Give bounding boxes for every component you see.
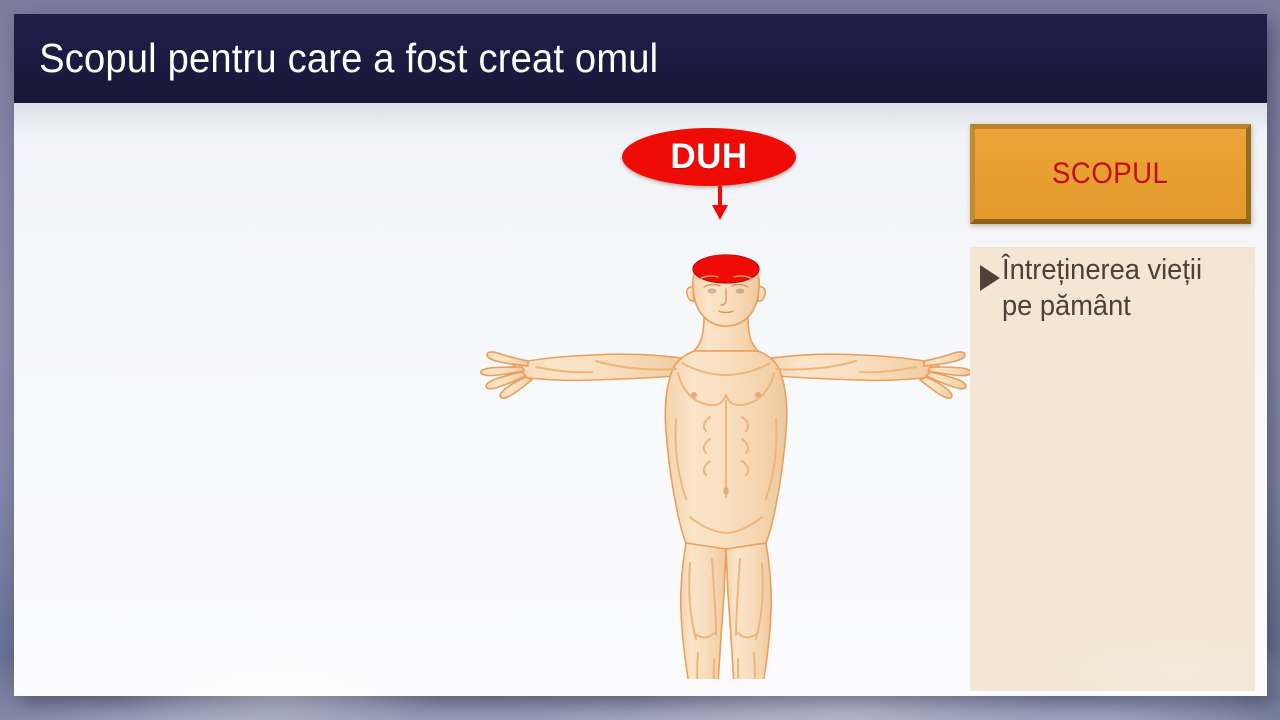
triangle-bullet-icon — [980, 265, 1000, 291]
presentation-slide: Scopul pentru care a fost creat omul DUH — [14, 14, 1267, 696]
bullet-item-text: Întreținerea vieții pe pământ — [1002, 253, 1202, 324]
list-item: Întreținerea vieții pe pământ — [980, 253, 1245, 324]
human-body-anatomy-illustration — [476, 119, 976, 679]
bullet-content-panel: Întreținerea vieții pe pământ — [970, 247, 1255, 691]
slide-canvas: DUH — [14, 103, 1267, 696]
scopul-heading-label: SCOPUL — [1052, 157, 1168, 191]
page-title: Scopul pentru care a fost creat omul — [14, 35, 658, 82]
scopul-heading-box: SCOPUL — [970, 124, 1251, 224]
bullet-line-1: Întreținerea vieții — [1002, 253, 1202, 289]
bullet-line-2: pe pământ — [1002, 289, 1202, 325]
slide-title-bar: Scopul pentru care a fost creat omul — [14, 14, 1267, 103]
desktop-backdrop: Scopul pentru care a fost creat omul DUH — [0, 0, 1280, 720]
